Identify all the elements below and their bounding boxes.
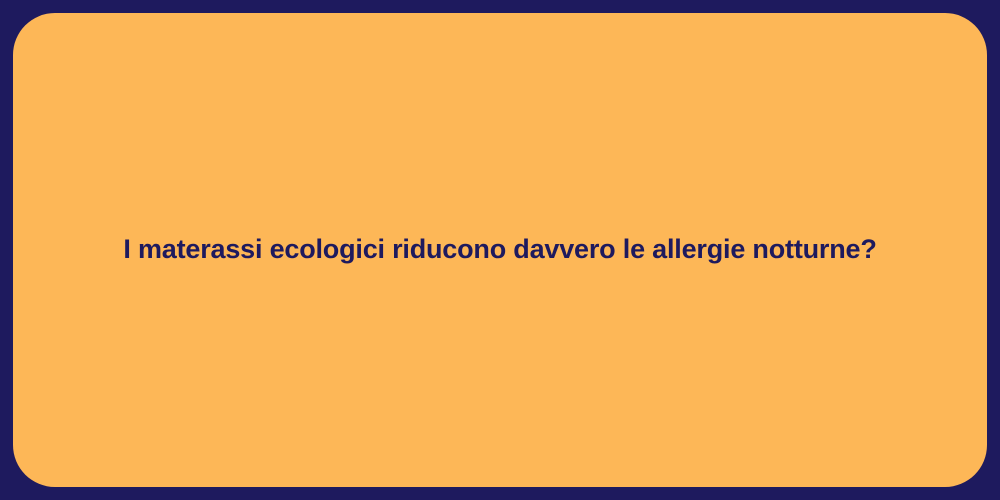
headline-card: I materassi ecologici riducono davvero l… [13, 13, 987, 487]
page-title: I materassi ecologici riducono davvero l… [123, 232, 876, 267]
outer-frame: I materassi ecologici riducono davvero l… [0, 0, 1000, 500]
